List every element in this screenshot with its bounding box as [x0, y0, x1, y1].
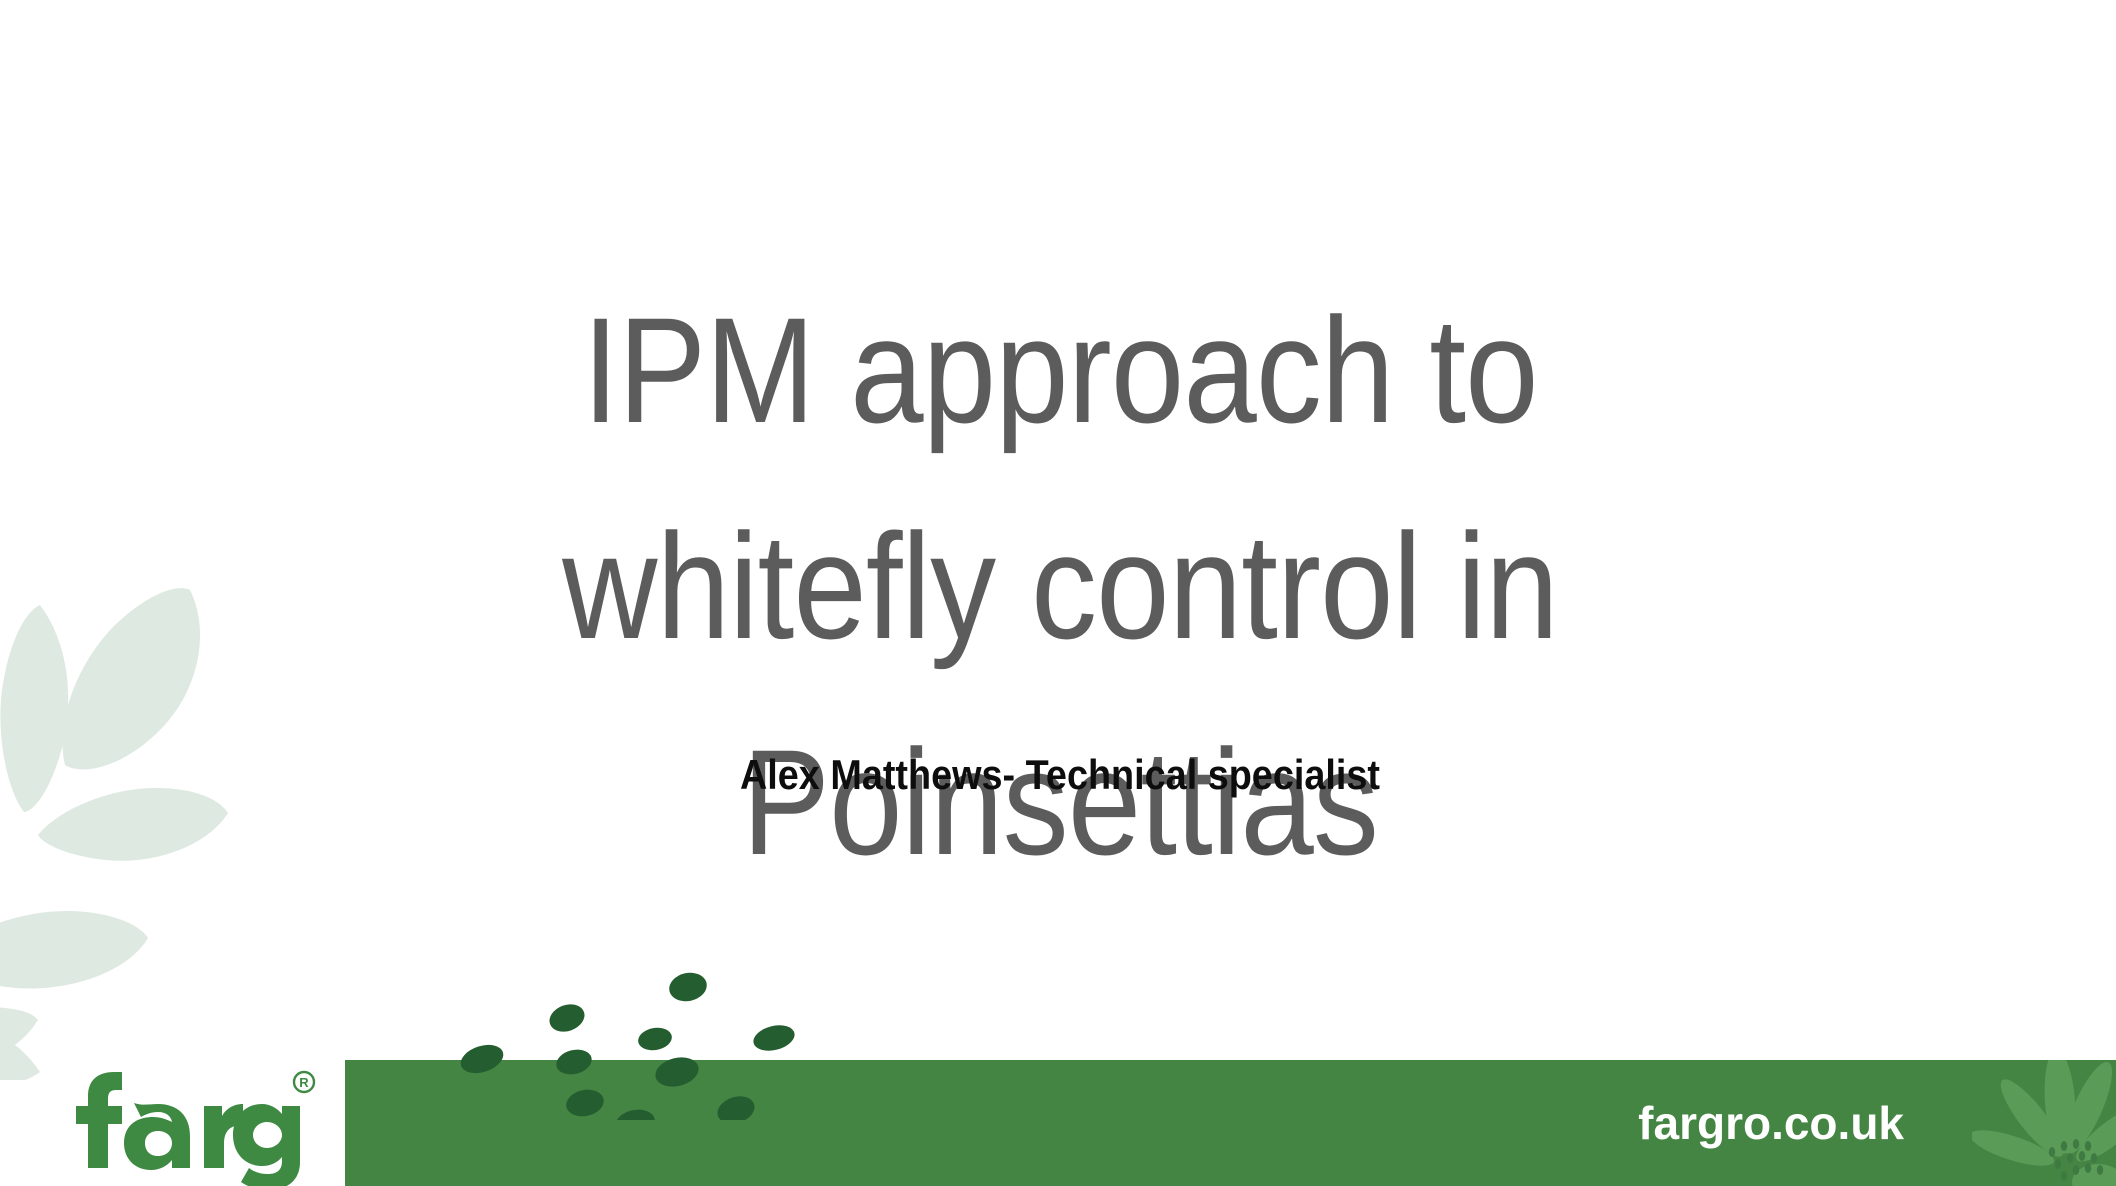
page-title: IPM approach to whitefly control in Poin… [418, 262, 1703, 910]
pale-leaf-shapes [0, 588, 228, 1080]
presentation-title-slide: fargro.co.uk [0, 0, 2116, 1186]
registered-trademark-icon: R [294, 1072, 314, 1092]
flower-stamen-dots [2049, 1139, 2103, 1181]
fargro-wordmark-icon [76, 1062, 300, 1186]
seed-icon [751, 1021, 798, 1054]
seed-icon [546, 1000, 589, 1037]
footer-website-url[interactable]: fargro.co.uk [1638, 1096, 1904, 1150]
leaf-icon [0, 605, 68, 812]
subtitle-block: Alex Matthews- Technical specialist [330, 750, 1790, 800]
seed-icon [636, 1025, 673, 1053]
leaf-cluster-decoration [0, 560, 260, 1080]
presenter-name-and-role: Alex Matthews- Technical specialist [403, 750, 1717, 800]
title-block: IPM approach to whitefly control in Poin… [330, 262, 1790, 910]
leaf-icon [0, 911, 148, 989]
footer-bar: fargro.co.uk [345, 1060, 2116, 1186]
seed-icon [667, 969, 710, 1004]
flower-decoration-icon [1972, 1060, 2116, 1186]
leaf-icon [0, 1030, 40, 1080]
leaf-icon [0, 1006, 38, 1068]
fargro-logo[interactable]: R [36, 1062, 316, 1186]
leaf-icon [38, 788, 228, 861]
leaf-icon [62, 588, 200, 769]
svg-text:R: R [299, 1075, 309, 1090]
